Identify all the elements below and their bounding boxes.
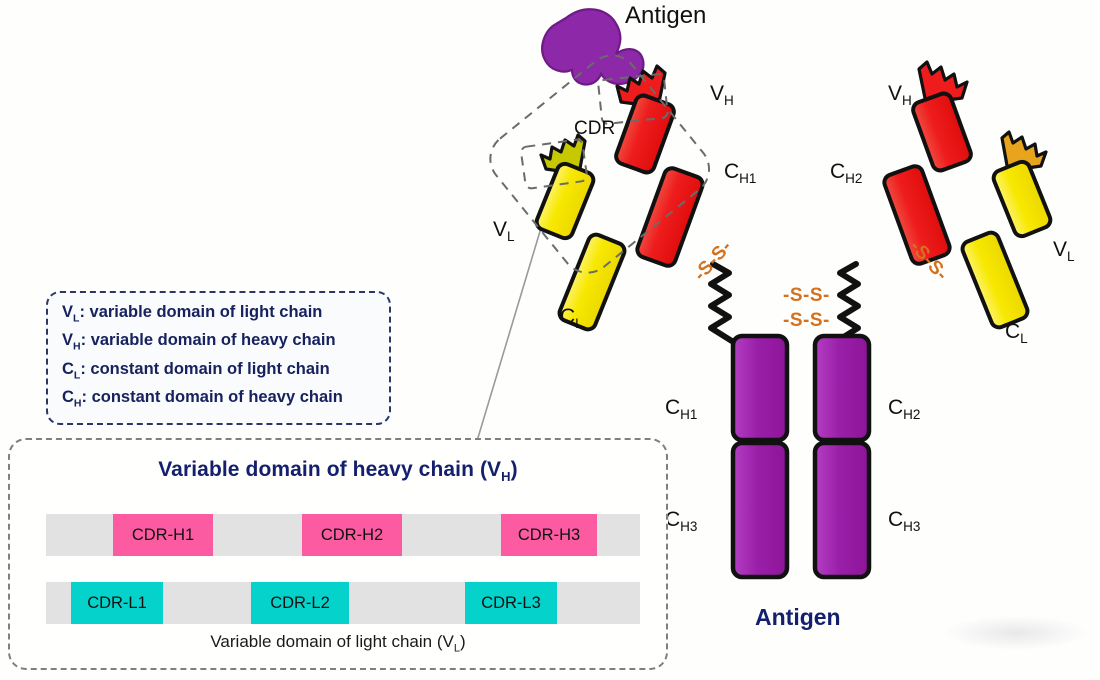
antigen-bottom-label: Antigen [755, 604, 841, 631]
label-ch1-left: CH1 [724, 160, 756, 186]
label-ch2-right: CH2 [830, 160, 862, 186]
label-ch2-fc: CH2 [888, 396, 920, 422]
heavy-chain-track: CDR-H1CDR-H2CDR-H3 [46, 514, 640, 556]
legend-item-vl: VL: variable domain of light chain [62, 301, 379, 329]
domain-cl-right [960, 230, 1030, 330]
legend-item-vh: VH: variable domain of heavy chain [62, 329, 379, 357]
cdr-segment-cdr-h1: CDR-H1 [113, 514, 213, 556]
disulfide-hinge-lower: -S-S- [783, 310, 830, 332]
domain-vl-right [991, 159, 1052, 238]
label-ch3-fc-left: CH3 [665, 508, 697, 534]
cdr-segment-cdr-h2: CDR-H2 [302, 514, 402, 556]
cdr-panel-caption-end: ) [460, 632, 466, 651]
abbreviation-legend: VL: variable domain of light chainVH: va… [46, 291, 391, 425]
disulfide-hinge-upper: -S-S- [783, 285, 830, 307]
cdr-panel-title-sub: H [501, 469, 511, 484]
domain-ch1-left [635, 166, 705, 268]
domain-vh-left [614, 93, 676, 174]
label-ch3-fc-right: CH3 [888, 508, 920, 534]
callout-pointer-line [477, 228, 541, 441]
domain-ch3-fc-left [733, 443, 787, 577]
legend-item-ch: CH: constant domain of heavy chain [62, 386, 379, 414]
cdr-panel-title-main: Variable domain of heavy chain (V [158, 458, 501, 481]
watermark [946, 616, 1086, 650]
label-vh-left: VH [710, 82, 734, 108]
label-vl-right: VL [1053, 238, 1075, 264]
domain-vh-right [911, 91, 973, 172]
legend-item-cl: CL: constant domain of light chain [62, 358, 379, 386]
label-cl-right: CL [1005, 320, 1028, 346]
cdr-segment-cdr-l3: CDR-L3 [465, 582, 557, 624]
cdr-panel-title: Variable domain of heavy chain (VH) [10, 458, 666, 484]
cdr-detail-panel: Variable domain of heavy chain (VH) CDR-… [8, 438, 668, 670]
domain-ch2-fc-left [733, 336, 787, 440]
figure-canvas: Antigen Antigen CDR VHCH1VLCLVHCH2VLCLCH… [0, 0, 1100, 680]
light-chain-track: CDR-L1CDR-L2CDR-L3 [46, 582, 640, 624]
cdr-segment-cdr-l1: CDR-L1 [71, 582, 163, 624]
cdr-segment-cdr-h3: CDR-H3 [501, 514, 597, 556]
label-vh-right: VH [888, 82, 912, 108]
domain-ch2-fc-right [815, 336, 869, 440]
cdr-panel-caption: Variable domain of light chain (VL) [10, 632, 666, 654]
cdr-label: CDR [574, 118, 615, 140]
label-vl-left: VL [493, 218, 515, 244]
label-cl-left: CL [560, 305, 583, 331]
cdr-segment-cdr-l2: CDR-L2 [251, 582, 349, 624]
domain-ch3-fc-right [815, 443, 869, 577]
label-ch1-fc: CH1 [665, 396, 697, 422]
hinge-spring-right [834, 264, 858, 343]
antigen-top-label: Antigen [625, 2, 706, 30]
left-heavy-chain [614, 66, 705, 268]
left-light-chain [534, 135, 627, 332]
cdr-panel-caption-main: Variable domain of light chain (V [210, 632, 454, 651]
cdr-panel-title-end: ) [511, 458, 518, 481]
right-light-chain [960, 132, 1053, 330]
